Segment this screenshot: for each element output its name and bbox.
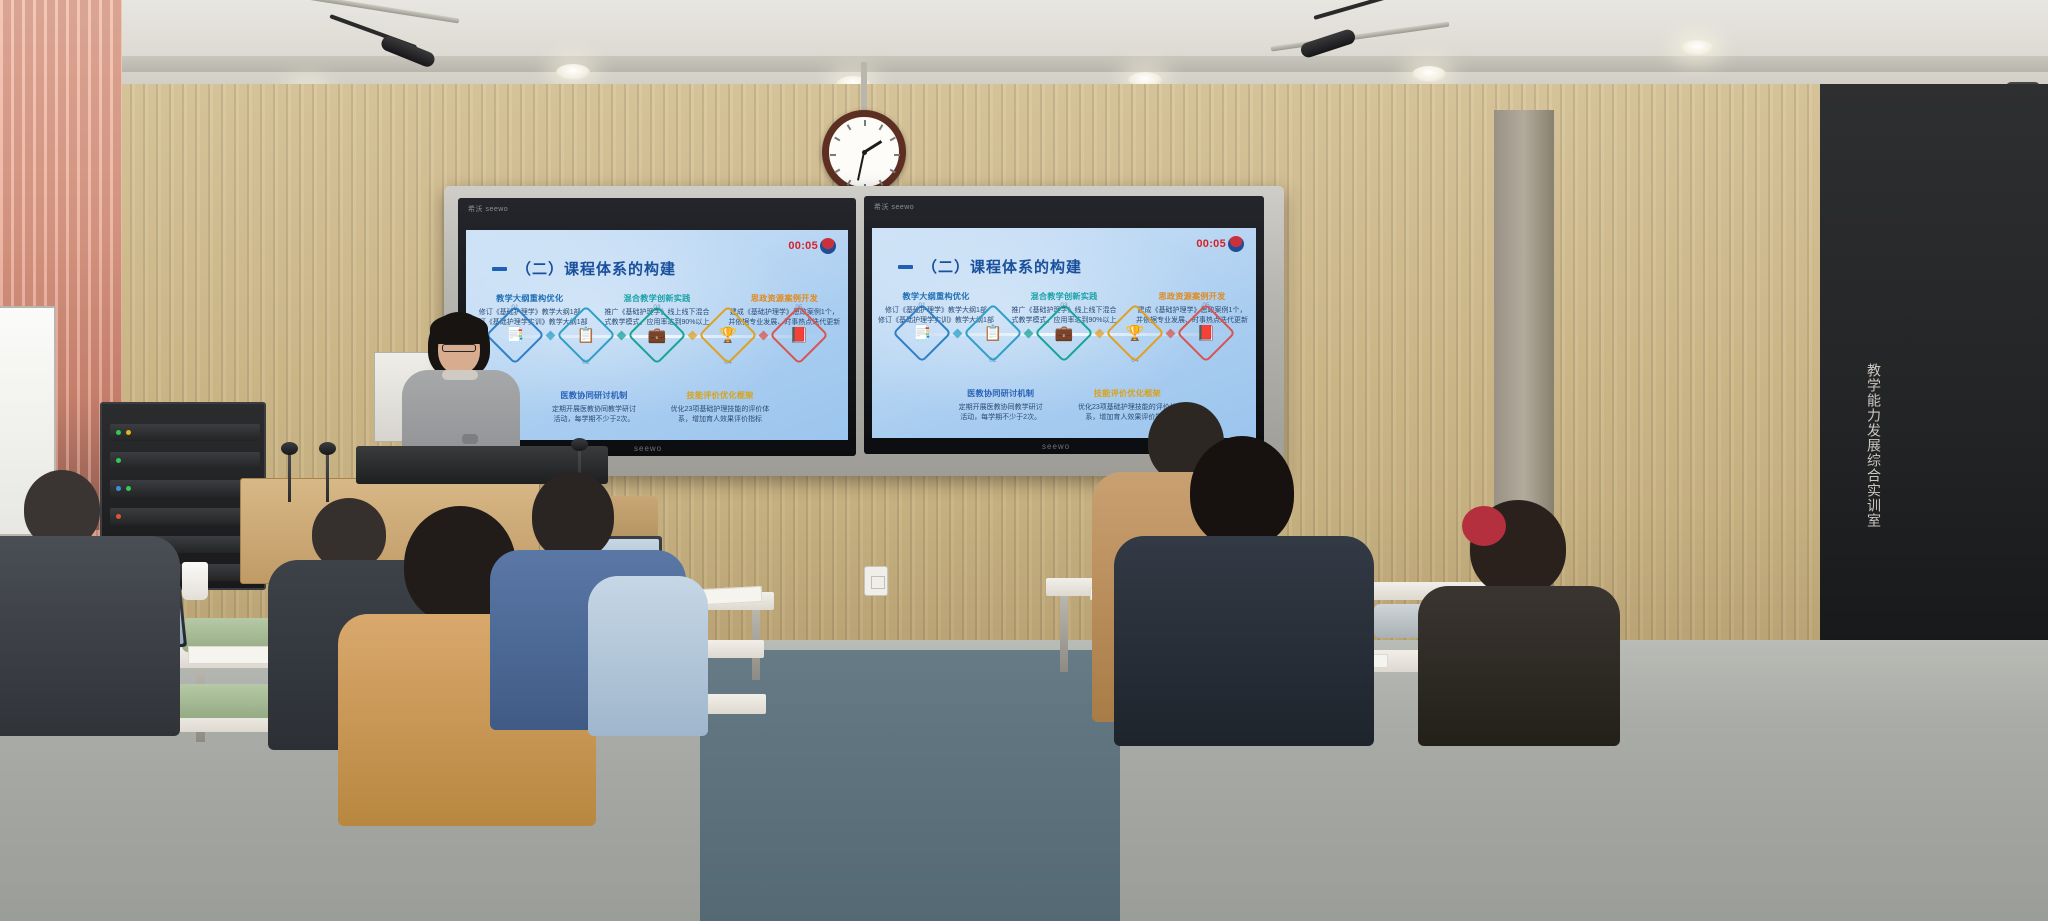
clock-tick [830,154,836,156]
slide-title: （二）课程体系的构建 [516,258,676,279]
wall-clock [822,110,906,194]
title-dash-icon [898,265,913,269]
node-diamond-icon: 💼 [1034,303,1093,362]
status-led [116,458,121,463]
room-name-sign: 教学能力发展综合实训室 [1848,330,1882,560]
node-glyph-icon: 📕 [1197,326,1216,341]
attendee [588,556,708,736]
node-glyph-icon: 📑 [913,326,932,341]
syllabus-node[interactable]: 01📑01 [894,302,950,364]
node-glyph-icon: 📕 [790,328,809,343]
display-bottom-logo: seewo [634,444,662,453]
node-glyph-icon: 📋 [577,328,596,343]
column-heading: 教学大纲重构优化 [876,290,996,302]
column-heading: 技能评价优化框架 [1068,387,1187,399]
briefcase-node[interactable]: 03💼03 [629,304,685,366]
presenter-fringe [430,314,488,344]
slide-bottom-column: 医教协同研讨机制定期开展医教协同教学研讨活动，每学期不少于2次。 [937,387,1064,422]
chain-separator-icon [1024,328,1034,338]
book-node[interactable]: 05📕05 [1178,302,1234,364]
clipboard-node[interactable]: 02📋02 [558,304,614,366]
node-glyph-icon: 💼 [648,328,667,343]
column-heading: 思政资源案例开发 [725,292,844,304]
ceiling-light [556,64,590,80]
ceiling-light [1412,66,1446,82]
desk-microphone [571,438,588,451]
chain-separator-icon [1095,328,1105,338]
classroom-scene: 教学能力发展综合实训室 [0,0,2048,921]
clock-tick [847,180,852,186]
clock-tick [894,154,900,156]
microphone-stand [326,452,329,502]
attendee-body [1418,586,1620,746]
clock-tick [879,124,884,130]
column-heading: 混合教学创新实践 [1004,290,1124,302]
bottom-spacer [872,387,937,422]
clock-tick [879,180,884,186]
hair-scrunchie [1462,506,1506,546]
chain-separator-icon [688,330,698,340]
chain-separator-icon [617,330,627,340]
clock-minute-hand [857,152,865,181]
node-diamond-icon: 🏆 [1105,303,1164,362]
display-brand-label: 希沃 seewo [468,204,508,214]
microphone-stand [288,452,291,502]
clock-tick [834,169,840,174]
desk-microphone [281,442,298,455]
attendee-body [0,536,180,736]
chain-separator-icon [546,330,556,340]
rack-unit [110,424,260,441]
desk-leg [1060,596,1068,672]
briefcase-node[interactable]: 03💼03 [1036,302,1092,364]
ceiling-light [1680,40,1714,56]
node-diamond-icon: 📋 [963,303,1022,362]
chain-separator-icon [759,330,769,340]
column-body: 定期开展医教协同教学研讨活动，每学期不少于2次。 [535,405,653,424]
node-diamond-icon: 📕 [769,305,828,364]
ceiling [0,0,2048,92]
column-body: 优化23项基础护理技能的评价体系，增加育人效果评价指标 [661,405,779,424]
timer-text: 00:05 [1196,238,1226,250]
slide-title: （二）课程体系的构建 [922,256,1082,277]
attendee [1128,436,1358,736]
attendee-head [532,472,614,560]
attendee-body [588,576,708,736]
attendee [1424,500,1614,730]
slide-timer: 00:05 [1196,236,1244,252]
attendee-body [1114,536,1374,746]
column-heading: 思政资源案例开发 [1132,290,1252,302]
slide-timer: 00:05 [788,238,836,254]
node-diamond-icon: 📋 [556,305,615,364]
presenter-necklace [442,370,478,380]
column-heading: 混合教学创新实践 [597,292,716,304]
wall-outlet [864,566,888,596]
chain-separator-icon [1166,328,1176,338]
trophy-node[interactable]: 04🏆04 [700,304,756,366]
clock-center-pin [862,150,867,155]
slide-title-row: （二）课程体系的构建 [898,256,1082,277]
slide-bottom-column: 医教协同研讨机制定期开展医教协同教学研讨活动，每学期不少于2次。 [531,389,657,424]
column-heading: 技能评价优化框架 [661,389,779,401]
title-dash-icon [492,267,507,271]
node-diamond-icon: 📕 [1176,303,1235,362]
clock-tick [847,124,852,130]
attendee [0,470,200,730]
node-glyph-icon: 💼 [1055,326,1074,341]
trophy-node[interactable]: 04🏆04 [1107,302,1163,364]
ceiling-beam [0,56,2048,72]
node-diamond-icon: 🏆 [698,305,757,364]
slide-title-row: （二）课程体系的构建 [492,258,676,279]
column-heading: 医教协同研讨机制 [535,389,653,401]
chain-separator-icon [953,328,963,338]
display-brand-label: 希沃 seewo [874,202,914,212]
node-glyph-icon: 🏆 [719,328,738,343]
timer-badge-icon [1228,236,1244,252]
clock-tick [834,137,840,142]
attendee-head [1190,436,1294,548]
column-heading: 医教协同研讨机制 [941,387,1060,399]
column-heading: 教学大纲重构优化 [470,292,589,304]
timer-badge-icon [820,238,836,254]
status-led [126,430,131,435]
rack-unit [110,452,260,469]
display-bottom-logo: seewo [1042,442,1070,451]
node-glyph-icon: 📋 [984,326,1003,341]
node-glyph-icon: 🏆 [1126,326,1145,341]
node-diamond-icon: 📑 [892,303,951,362]
slide-bottom-column: 技能评价优化框架优化23项基础护理技能的评价体系，增加育人效果评价指标 [657,389,783,424]
document-sheet [188,646,276,664]
column-body: 定期开展医教协同教学研讨活动，每学期不少于2次。 [941,403,1060,422]
slide-process-chain: 01📑0102📋0203💼0304🏆0405📕05 [872,302,1256,364]
clock-tick [864,120,866,126]
bottom-spacer [783,389,848,424]
desk-microphone [319,442,336,455]
book-node[interactable]: 05📕05 [771,304,827,366]
timer-text: 00:05 [788,240,818,252]
clock-tick [890,137,896,142]
status-led [116,430,121,435]
presenter-clicker [462,434,478,444]
clipboard-node[interactable]: 02📋02 [965,302,1021,364]
node-diamond-icon: 💼 [627,305,686,364]
clock-tick [890,169,896,174]
presenter-glasses [442,344,476,352]
floor-carpet-band [700,650,1120,921]
